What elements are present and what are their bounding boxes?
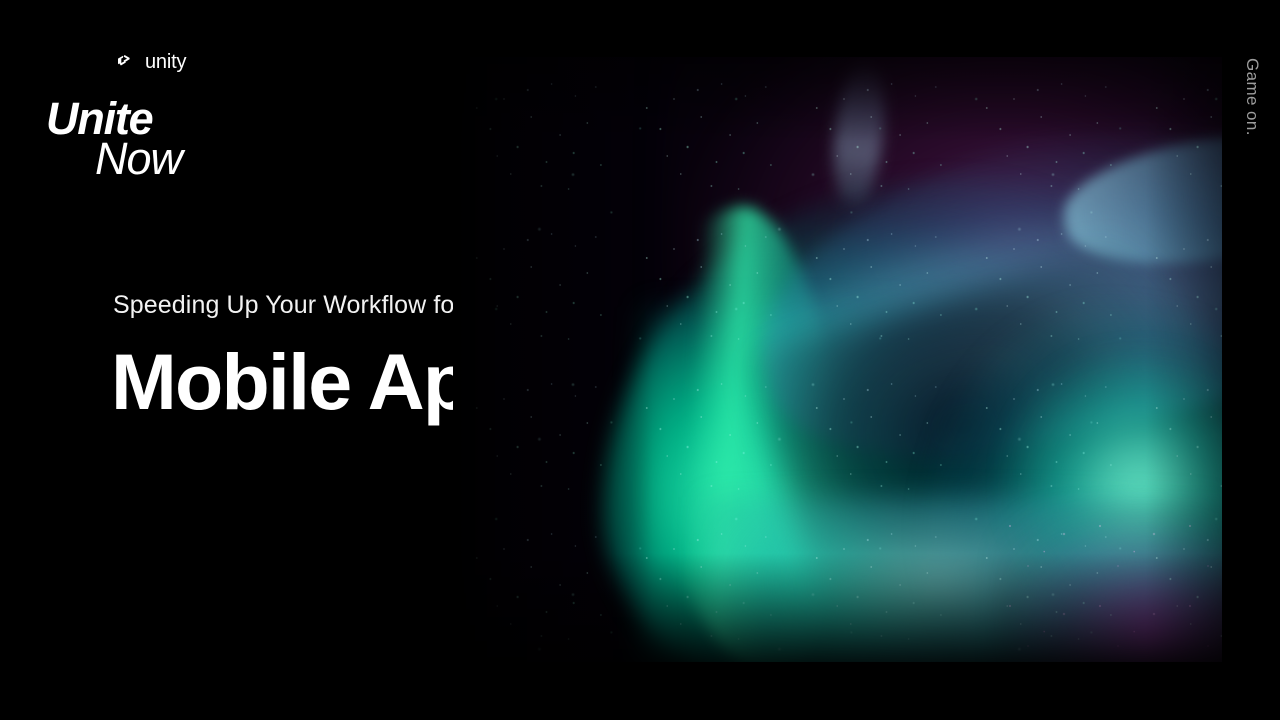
slide-eyebrow: Speeding Up Your Workflow for [113,292,463,320]
unity-wordmark: unity [145,52,186,72]
brand-lockup: unity Unite Now [46,50,186,181]
unite-now-logo: Unite Now [46,98,182,181]
presentation-slide: unity Unite Now Speeding Up Your Workflo… [0,0,1280,720]
unite-now-line-2: Now [46,138,182,181]
unity-cube-icon [112,50,136,74]
tagline-game-on: Game on. [1242,58,1262,136]
unity-logo: unity [112,50,186,74]
particle-artwork [453,57,1222,662]
particle-speckles-magenta [992,502,1222,662]
